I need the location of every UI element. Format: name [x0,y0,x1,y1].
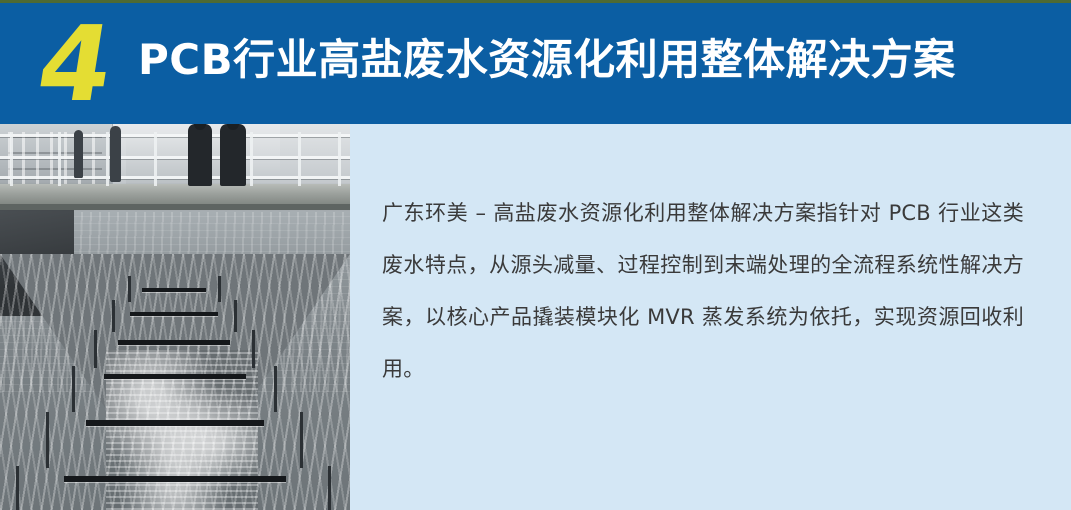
photo-vane-r1 [218,276,221,302]
photo-vane-r4 [274,366,277,412]
photo-rail-post-2 [58,132,61,186]
body-region: 广东环美 – 高盐废水资源化利用整体解决方案指针对 PCB 行业这类废水特点，从… [0,124,1071,510]
photo-crossbar-4 [104,374,246,379]
photo-rail-post-6 [250,132,253,186]
wastewater-plant-photo [0,124,350,510]
description-panel: 广东环美 – 高盐废水资源化利用整体解决方案指针对 PCB 行业这类废水特点，从… [350,124,1071,510]
photo-rail-post-3 [106,132,109,186]
photo-vane-l1 [128,276,131,302]
photo-walkway-edge [0,204,350,210]
photo-rail-post-1 [10,132,13,186]
description-paragraph: 广东环美 – 高盐废水资源化利用整体解决方案指针对 PCB 行业这类废水特点，从… [382,187,1024,395]
photo-weir-trough [0,254,350,510]
photo-rail-post-8 [338,132,341,186]
photo-vane-l2 [112,300,115,332]
header-inner: 4 PCB行业高盐废水资源化利用整体解决方案 [0,3,1071,124]
photo-crossbar-6 [64,476,286,482]
photo-vane-r2 [234,300,237,332]
photo-vane-l6 [16,466,19,510]
section-number-badge: 4 [18,15,130,113]
photo-crossbar-1 [142,288,206,292]
photo-vane-r5 [300,412,303,468]
photo-vane-l3 [94,330,97,368]
photo-rail-post-7 [298,132,301,186]
header-band: 4 PCB行业高盐废水资源化利用整体解决方案 [0,3,1071,124]
photo-worker-far-left [110,126,121,182]
photo-rail-post-4 [154,132,157,186]
photo-vane-r3 [252,330,255,368]
photo-crossbar-5 [86,420,264,426]
photo-crossbar-3 [118,340,230,345]
photo-vane-r6 [328,466,331,510]
photo-worker-1 [188,124,212,186]
photo-railing [0,132,350,186]
photo-worker-far-left-2 [74,130,83,178]
slide-root: 4 PCB行业高盐废水资源化利用整体解决方案 [0,0,1071,510]
photo-vane-l5 [46,412,49,468]
photo-vane-l4 [72,366,75,412]
photo-worker-2 [220,124,246,186]
photo-crossbar-2 [130,312,218,316]
photo-walkway-deck [0,184,350,206]
page-title: PCB行业高盐废水资源化利用整体解决方案 [138,29,1038,91]
